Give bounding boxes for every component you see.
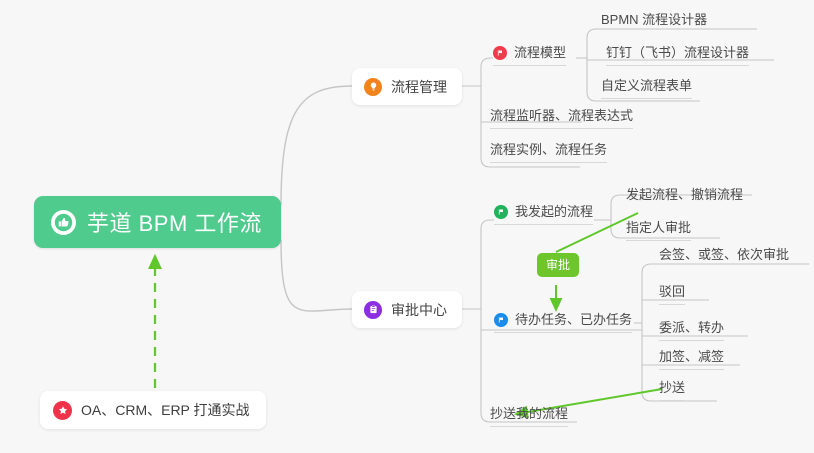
flag-icon xyxy=(494,205,508,219)
lightbulb-icon xyxy=(364,78,382,96)
connector-pm-to-model xyxy=(481,58,493,67)
clipboard-icon xyxy=(364,301,382,319)
node-process-instance-task[interactable]: 流程实例、流程任务 xyxy=(490,142,607,163)
connector-ac-to-my-started xyxy=(481,220,494,229)
leaf-bpmn-designer[interactable]: BPMN 流程设计器 xyxy=(601,12,707,32)
root-label: 芋道 BPM 工作流 xyxy=(87,206,262,238)
leaf-reject[interactable]: 驳回 xyxy=(659,284,685,305)
node-label: 抄送我的流程 xyxy=(490,406,568,421)
leaf-label: 指定人审批 xyxy=(626,220,691,235)
leaf-cc[interactable]: 抄送 xyxy=(659,380,685,401)
flag-icon xyxy=(494,313,508,327)
node-label: 流程实例、流程任务 xyxy=(490,142,607,157)
leaf-label: BPMN 流程设计器 xyxy=(601,12,707,27)
node-label: 流程监听器、流程表达式 xyxy=(490,108,633,123)
leaf-dingtalk-designer[interactable]: 钉钉（飞书）流程设计器 xyxy=(606,45,749,66)
leaf-add-remove-sign[interactable]: 加签、减签 xyxy=(659,349,724,370)
leaf-label: 加签、减签 xyxy=(659,349,724,364)
callout-node-integration[interactable]: OA、CRM、ERP 打通实战 xyxy=(40,391,266,429)
leaf-initiate-cancel-process[interactable]: 发起流程、撤销流程 xyxy=(626,187,743,207)
node-label: 我发起的流程 xyxy=(515,204,593,220)
branch-node-approval-center[interactable]: 审批中心 xyxy=(352,291,462,328)
leaf-label: 会签、或签、依次审批 xyxy=(659,247,789,262)
branch-node-process-management[interactable]: 流程管理 xyxy=(352,68,462,105)
leaf-label: 钉钉（飞书）流程设计器 xyxy=(606,45,749,60)
node-todo-done-tasks[interactable]: 待办任务、已办任务 xyxy=(494,312,632,333)
flag-icon xyxy=(493,46,507,60)
connector-root-to-process-management xyxy=(281,86,352,205)
node-my-started-process[interactable]: 我发起的流程 xyxy=(494,204,593,225)
leaf-label: 驳回 xyxy=(659,284,685,299)
connector-root-to-approval-center xyxy=(281,240,352,311)
leaf-label: 发起流程、撤销流程 xyxy=(626,187,743,202)
leaf-assignee-approval[interactable]: 指定人审批 xyxy=(626,220,691,241)
leaf-label: 抄送 xyxy=(659,380,685,395)
leaf-label: 委派、转办 xyxy=(659,320,724,335)
callout-label: OA、CRM、ERP 打通实战 xyxy=(81,400,250,420)
node-cc-to-me-process[interactable]: 抄送我的流程 xyxy=(490,406,568,427)
node-process-listener-expression[interactable]: 流程监听器、流程表达式 xyxy=(490,108,633,129)
mindmap-canvas: 芋道 BPM 工作流 流程管理 流程模型 BPMN 流程设计器 钉钉（飞书）流程… xyxy=(0,0,814,453)
leaf-custom-form[interactable]: 自定义流程表单 xyxy=(601,78,692,99)
thumbs-up-icon xyxy=(51,210,76,235)
leaf-countersign[interactable]: 会签、或签、依次审批 xyxy=(659,247,789,267)
leaf-delegate-transfer[interactable]: 委派、转办 xyxy=(659,320,724,341)
branch-label: 流程管理 xyxy=(391,77,447,97)
branch-label: 审批中心 xyxy=(391,300,447,320)
root-node[interactable]: 芋道 BPM 工作流 xyxy=(34,196,281,248)
node-process-model[interactable]: 流程模型 xyxy=(493,45,566,66)
annotation-tag-approval: 审批 xyxy=(537,253,579,277)
node-label: 待办任务、已办任务 xyxy=(515,312,632,328)
star-icon xyxy=(53,401,72,420)
node-label: 流程模型 xyxy=(514,45,566,61)
annotation-tag-label: 审批 xyxy=(546,258,570,272)
leaf-label: 自定义流程表单 xyxy=(601,78,692,93)
